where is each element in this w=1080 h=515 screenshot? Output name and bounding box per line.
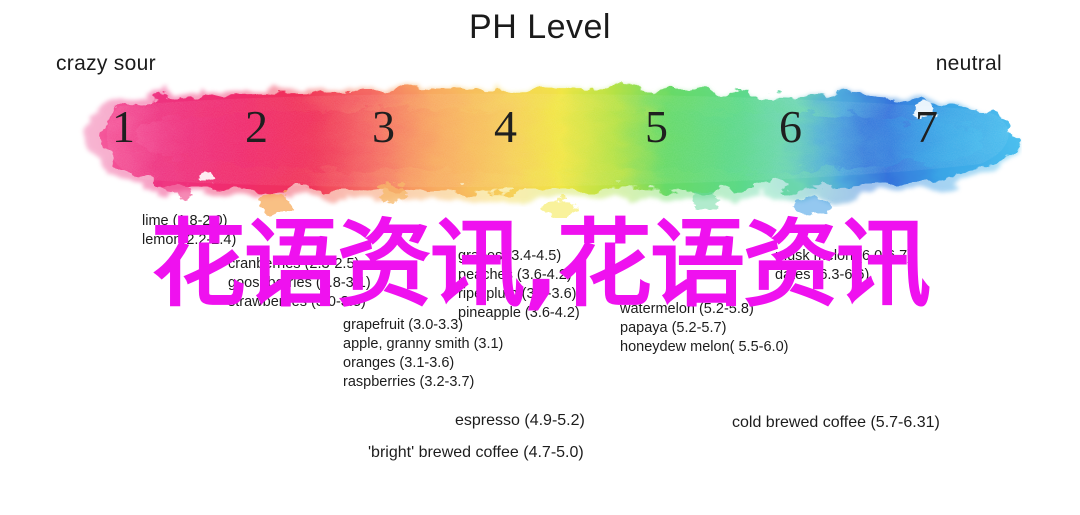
- annotation-cold-brewed-coffee: cold brewed coffee (5.7-6.31): [732, 414, 940, 432]
- list-item: honeydew melon( 5.5-6.0): [620, 338, 788, 357]
- ph-scale-infographic: PH Level crazy sour neutral: [0, 0, 1080, 515]
- food-list-column-c: grapefruit (3.0-3.3) apple, granny smith…: [343, 316, 503, 392]
- list-item: raspberries (3.2-3.7): [343, 373, 503, 392]
- list-item: watermelon (5.2-5.8): [620, 300, 788, 319]
- food-list-column-a: lime (1.8-2.0) lemon(2.2-2.4): [142, 212, 236, 250]
- annotation-bright-brewed-coffee: 'bright' brewed coffee (4.7-5.0): [368, 444, 584, 462]
- ph-value-3: 3: [372, 104, 395, 150]
- list-item: lemon(2.2-2.4): [142, 231, 236, 250]
- list-item: lime (1.8-2.0): [142, 212, 236, 231]
- list-item: gooseberries (2.8-3.1): [228, 274, 371, 293]
- ph-value-1: 1: [112, 104, 135, 150]
- list-item: pineapple (3.6-4.2): [458, 304, 580, 323]
- list-item: apple, granny smith (3.1): [343, 335, 503, 354]
- list-item: musk melon (6.0-6.7): [775, 247, 912, 266]
- food-list-column-b: cranberries (2.3-2.5) gooseberries (2.8-…: [228, 255, 371, 312]
- food-list-column-f: musk melon (6.0-6.7) dates (6.3-6.6): [775, 247, 912, 285]
- list-item: oranges (3.1-3.6): [343, 354, 503, 373]
- ph-value-6: 6: [779, 104, 802, 150]
- food-list-column-e: watermelon (5.2-5.8) papaya (5.2-5.7) ho…: [620, 300, 788, 357]
- list-item: ripe plum (3.2-3.6): [458, 285, 580, 304]
- ph-value-4: 4: [494, 104, 517, 150]
- list-item: grapes (3.4-4.5): [458, 247, 580, 266]
- ph-value-7: 7: [915, 104, 938, 150]
- annotation-espresso: espresso (4.9-5.2): [455, 412, 585, 430]
- list-item: strawberries (3.0-3.5): [228, 293, 371, 312]
- list-item: peaches (3.6-4.2): [458, 266, 580, 285]
- food-list-column-d: grapes (3.4-4.5) peaches (3.6-4.2) ripe …: [458, 247, 580, 323]
- page-title: PH Level: [0, 8, 1080, 47]
- list-item: papaya (5.2-5.7): [620, 319, 788, 338]
- ph-value-5: 5: [645, 104, 668, 150]
- list-item: dates (6.3-6.6): [775, 266, 912, 285]
- ph-value-2: 2: [245, 104, 268, 150]
- list-item: cranberries (2.3-2.5): [228, 255, 371, 274]
